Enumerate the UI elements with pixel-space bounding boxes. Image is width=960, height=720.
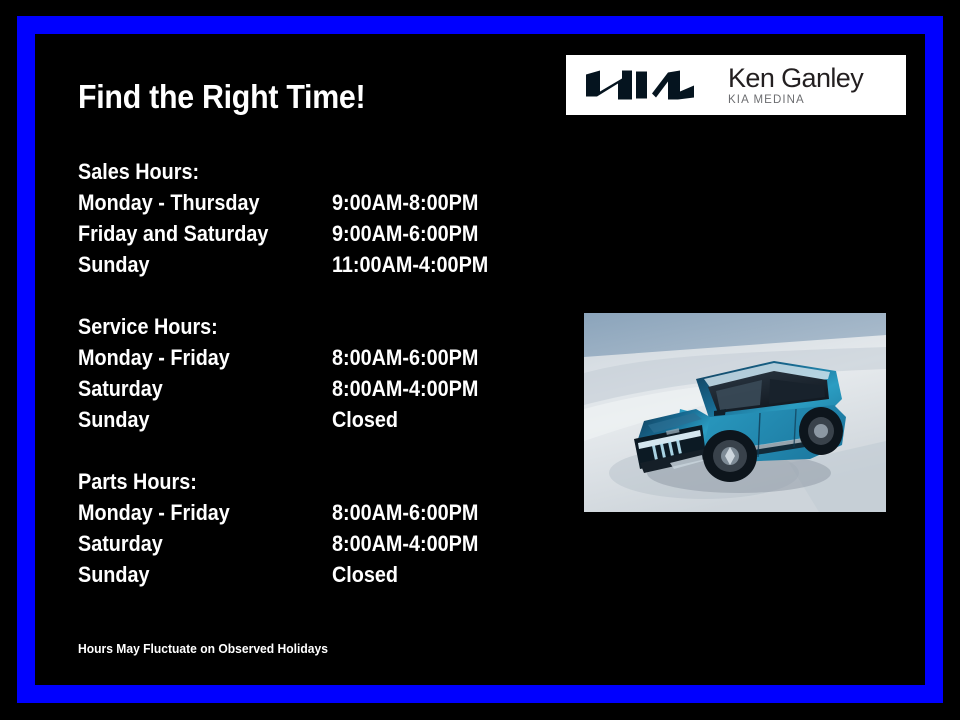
hours-row-day: Saturday xyxy=(78,373,307,404)
hours-row-time: 8:00AM-6:00PM xyxy=(332,497,478,528)
hours-row: Friday and Saturday 9:00AM-6:00PM xyxy=(78,218,548,249)
hours-row-day: Sunday xyxy=(78,249,307,280)
dealer-logo-box: Ken Ganley KIA MEDINA xyxy=(566,55,906,115)
holiday-disclaimer: Hours May Fluctuate on Observed Holidays xyxy=(78,641,328,656)
hours-row-time: Closed xyxy=(332,404,398,435)
hours-row: Sunday Closed xyxy=(78,404,548,435)
hours-row-day: Sunday xyxy=(78,559,307,590)
hours-row-day: Monday - Friday xyxy=(78,497,307,528)
hours-row-day: Saturday xyxy=(78,528,307,559)
dealer-subtitle: KIA MEDINA xyxy=(728,93,863,107)
hours-row-time: 9:00AM-6:00PM xyxy=(332,218,478,249)
hours-group-sales: Sales Hours: Monday - Thursday 9:00AM-8:… xyxy=(78,156,548,280)
hours-group-parts: Parts Hours: Monday - Friday 8:00AM-6:00… xyxy=(78,466,548,590)
dealer-name: Ken Ganley xyxy=(728,64,863,93)
hours-row: Monday - Friday 8:00AM-6:00PM xyxy=(78,497,548,528)
hours-row-time: 9:00AM-8:00PM xyxy=(332,187,478,218)
hours-row-time: 8:00AM-4:00PM xyxy=(332,373,478,404)
kia-ev9-suv-photo xyxy=(584,313,886,512)
hours-row: Monday - Thursday 9:00AM-8:00PM xyxy=(78,187,548,218)
kia-logo-icon xyxy=(580,68,700,102)
hours-row: Saturday 8:00AM-4:00PM xyxy=(78,373,548,404)
hours-row-day: Sunday xyxy=(78,404,307,435)
hours-row: Sunday 11:00AM-4:00PM xyxy=(78,249,548,280)
hours-row-day: Monday - Thursday xyxy=(78,187,307,218)
hours-row: Monday - Friday 8:00AM-6:00PM xyxy=(78,342,548,373)
hours-row: Saturday 8:00AM-4:00PM xyxy=(78,528,548,559)
group-heading: Parts Hours: xyxy=(78,466,501,497)
group-heading: Service Hours: xyxy=(78,311,501,342)
hours-row: Sunday Closed xyxy=(78,559,548,590)
hours-group-service: Service Hours: Monday - Friday 8:00AM-6:… xyxy=(78,311,548,435)
dealer-name-block: Ken Ganley KIA MEDINA xyxy=(728,64,863,107)
hours-row-time: 11:00AM-4:00PM xyxy=(332,249,488,280)
hours-list: Sales Hours: Monday - Thursday 9:00AM-8:… xyxy=(78,156,548,590)
hours-row-day: Friday and Saturday xyxy=(78,218,307,249)
hours-row-time: Closed xyxy=(332,559,398,590)
hours-row-time: 8:00AM-6:00PM xyxy=(332,342,478,373)
hours-row-time: 8:00AM-4:00PM xyxy=(332,528,478,559)
group-heading: Sales Hours: xyxy=(78,156,501,187)
hours-row-day: Monday - Friday xyxy=(78,342,307,373)
page-title: Find the Right Time! xyxy=(78,78,365,116)
slide-canvas: Find the Right Time! Ken Ganley KIA MEDI… xyxy=(0,0,960,720)
